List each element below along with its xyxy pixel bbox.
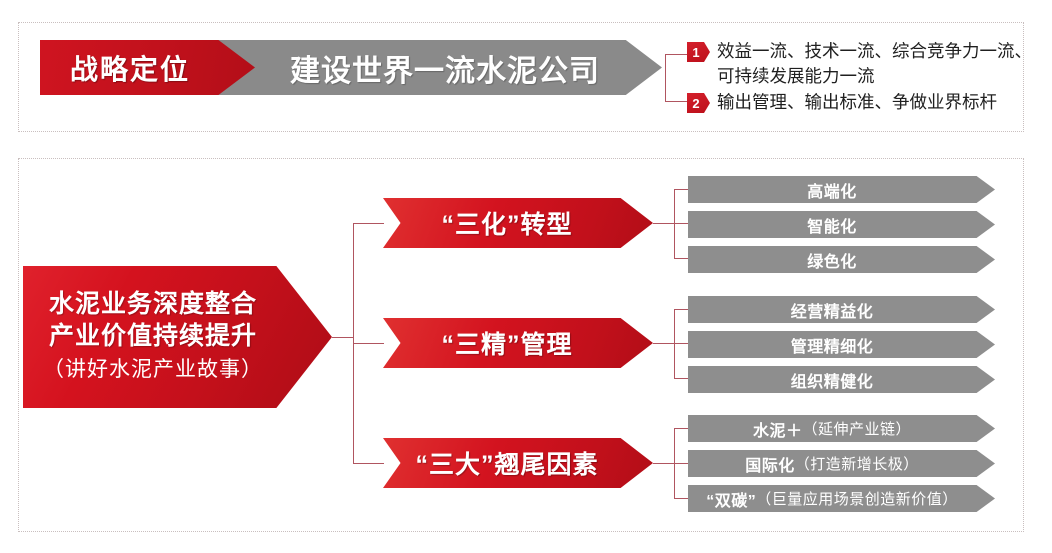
item-bar-8-paren: （打造新增长极）	[795, 453, 919, 474]
connector-branch2-item-3	[674, 378, 689, 379]
item-bar-6-main: 组织精健化	[791, 368, 874, 392]
item-bar-9-main: “双碳”	[706, 487, 756, 511]
connector-branch3-item-1	[674, 428, 689, 429]
bullet-number-badge-2: 2	[687, 93, 710, 113]
main-theme-block: 水泥业务深度整合 产业价值持续提升 （讲好水泥产业故事）	[23, 266, 283, 408]
connector-branch2-stub	[653, 343, 675, 344]
diagram-canvas: 建设世界一流水泥公司 战略定位 1 效益一流、技术一流、综合竞争力一流、 可持续…	[0, 0, 1052, 553]
item-bar-7-main: 水泥＋	[753, 417, 803, 441]
item-bar-5[interactable]: 管理精细化	[688, 331, 976, 358]
connector-branch2-item-2	[674, 343, 689, 344]
bullet-text-1: 效益一流、技术一流、综合竞争力一流、 可持续发展能力一流	[717, 39, 1032, 89]
item-bar-3[interactable]: 绿色化	[688, 246, 976, 273]
connector-left-branch-3	[353, 463, 384, 464]
item-bar-6[interactable]: 组织精健化	[688, 366, 976, 393]
connector-branch3-item-2	[674, 463, 689, 464]
item-bar-7-paren: （延伸产业链）	[803, 418, 912, 439]
connector-branch3-item-3	[674, 498, 689, 499]
main-theme-line-2: 产业价值持续提升	[49, 320, 257, 352]
item-bar-7[interactable]: 水泥＋ （延伸产业链）	[688, 415, 976, 442]
top-bracket-connector	[665, 54, 687, 102]
item-bar-9-paren: （巨量应用场景创造新价值）	[756, 488, 958, 509]
item-bar-3-main: 绿色化	[807, 248, 857, 272]
connector-branch1-item-1	[674, 189, 689, 190]
connector-branch1-item-2	[674, 223, 689, 224]
item-bar-2-main: 智能化	[807, 213, 857, 237]
main-theme-line-1: 水泥业务深度整合	[49, 288, 257, 320]
branch-chevron-2-label[interactable]: “三精”管理	[383, 318, 631, 368]
item-bar-9[interactable]: “双碳” （巨量应用场景创造新价值）	[688, 485, 976, 512]
strategy-bullet-2: 2 输出管理、输出标准、争做业界标杆	[687, 90, 997, 115]
strategy-positioning-label: 战略定位	[40, 40, 220, 95]
bullet-number-badge-1: 1	[687, 42, 710, 62]
connector-branch2-item-1	[674, 309, 689, 310]
item-bar-8[interactable]: 国际化 （打造新增长极）	[688, 450, 976, 477]
item-bar-4-main: 经营精益化	[791, 298, 874, 322]
bullet-text-2: 输出管理、输出标准、争做业界标杆	[717, 90, 997, 115]
item-bar-1-main: 高端化	[807, 178, 857, 202]
branch-chevron-3-label[interactable]: “三大”翘尾因素	[383, 438, 631, 488]
item-bar-4[interactable]: 经营精益化	[688, 296, 976, 323]
item-bar-1[interactable]: 高端化	[688, 176, 976, 203]
connector-branch1-stub	[653, 223, 675, 224]
item-bar-5-main: 管理精细化	[791, 333, 874, 357]
strategy-goal-label: 建设世界一流水泥公司	[255, 40, 635, 95]
item-bar-8-main: 国际化	[745, 452, 795, 476]
item-bar-2[interactable]: 智能化	[688, 211, 976, 238]
connector-left-branch-2	[353, 343, 384, 344]
connector-left-branch-1	[353, 223, 384, 224]
connector-main-stub	[332, 337, 354, 338]
connector-branch1-item-3	[674, 258, 689, 259]
strategy-bullet-1: 1 效益一流、技术一流、综合竞争力一流、 可持续发展能力一流	[687, 39, 1032, 89]
branch-chevron-1-label[interactable]: “三化”转型	[383, 198, 631, 248]
connector-branch3-stub	[653, 463, 675, 464]
main-theme-subtitle: （讲好水泥产业故事）	[43, 352, 263, 386]
